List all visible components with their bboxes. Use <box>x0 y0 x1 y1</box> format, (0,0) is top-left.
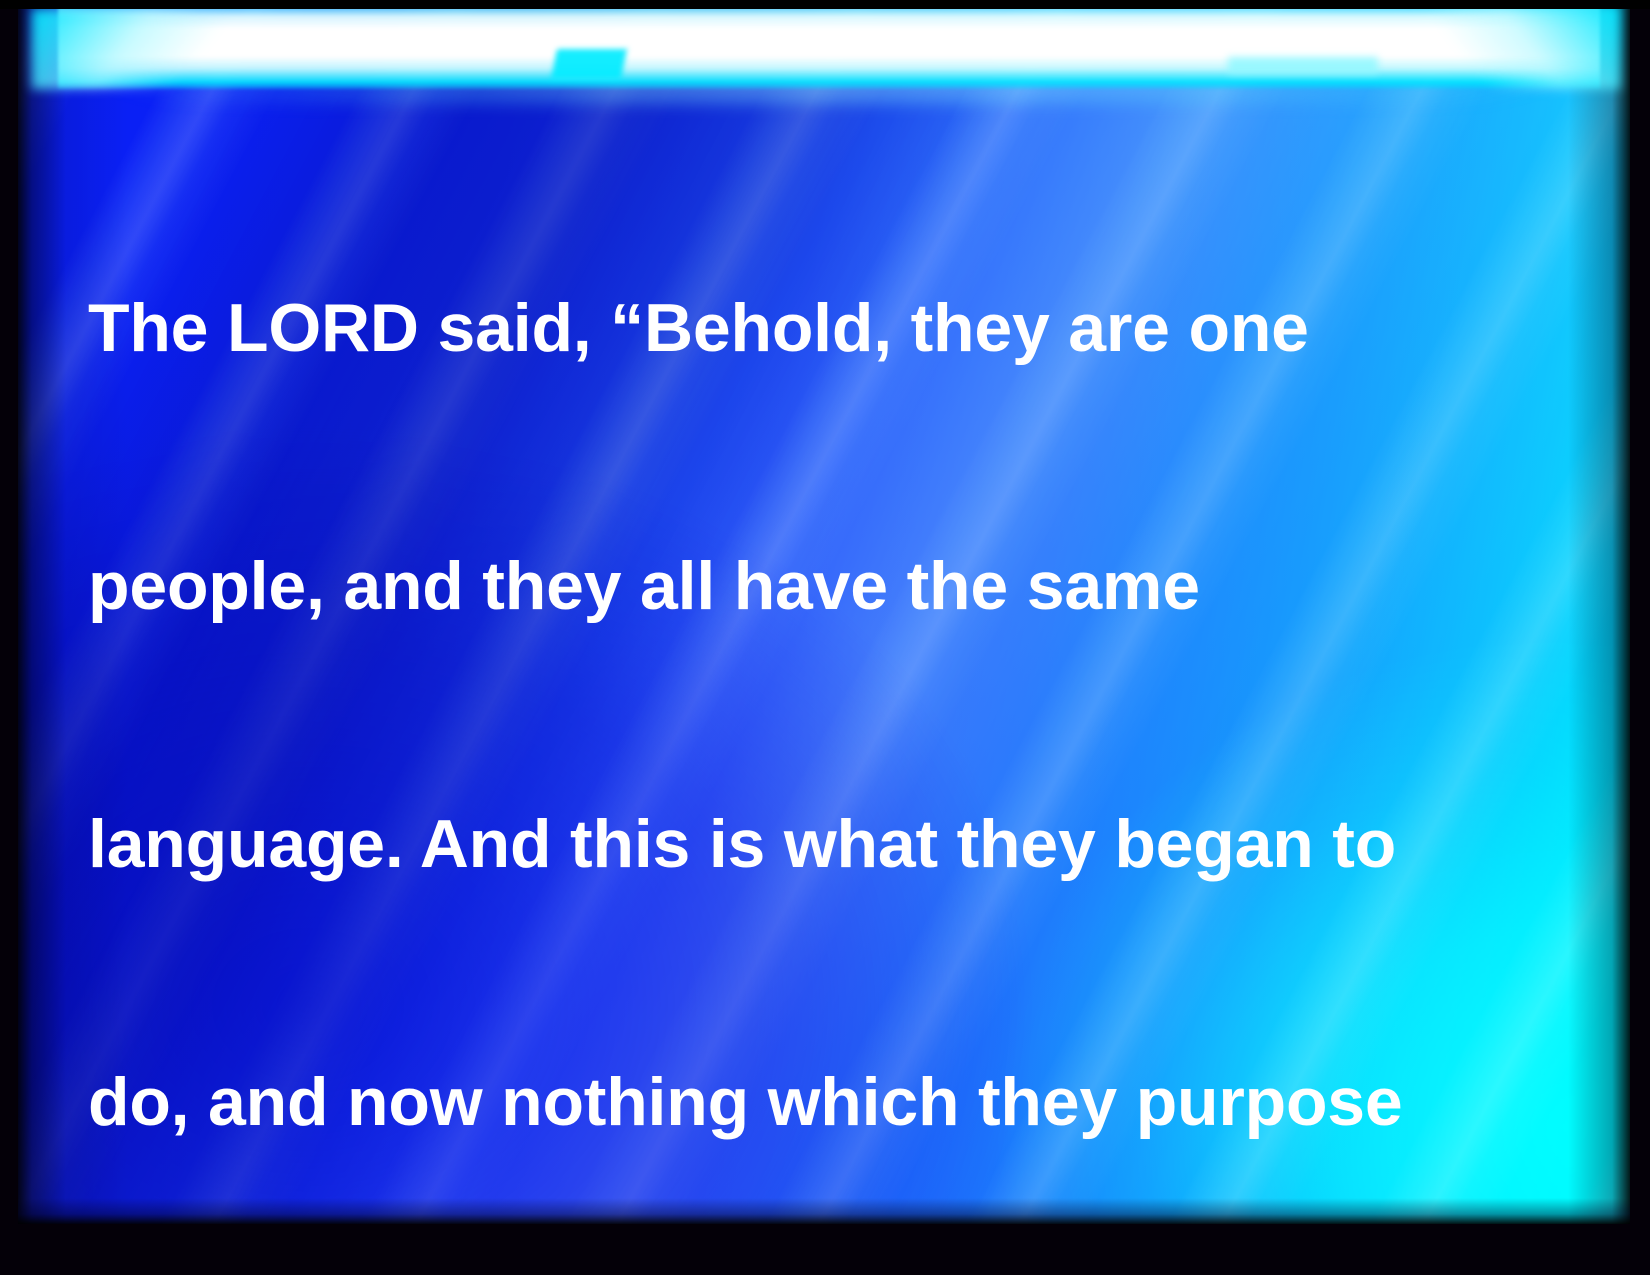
background-right-vignette <box>1560 9 1630 1224</box>
verse-line-2: people, and they all have the same <box>88 543 1568 629</box>
slide-canvas: The LORD said, “Behold, they are one peo… <box>0 0 1650 1275</box>
verse-slide: The LORD said, “Behold, they are one peo… <box>18 9 1630 1224</box>
header-band-highlight <box>1228 57 1378 74</box>
header-light-band <box>58 9 1600 89</box>
verse-line-1: The LORD said, “Behold, they are one <box>88 285 1568 371</box>
header-band-notch <box>551 49 627 79</box>
verse-line-3: language. And this is what they began to <box>88 801 1568 887</box>
verse-line-4: do, and now nothing which they purpose <box>88 1059 1568 1145</box>
verse-text-block: The LORD said, “Behold, they are one peo… <box>88 113 1568 1224</box>
